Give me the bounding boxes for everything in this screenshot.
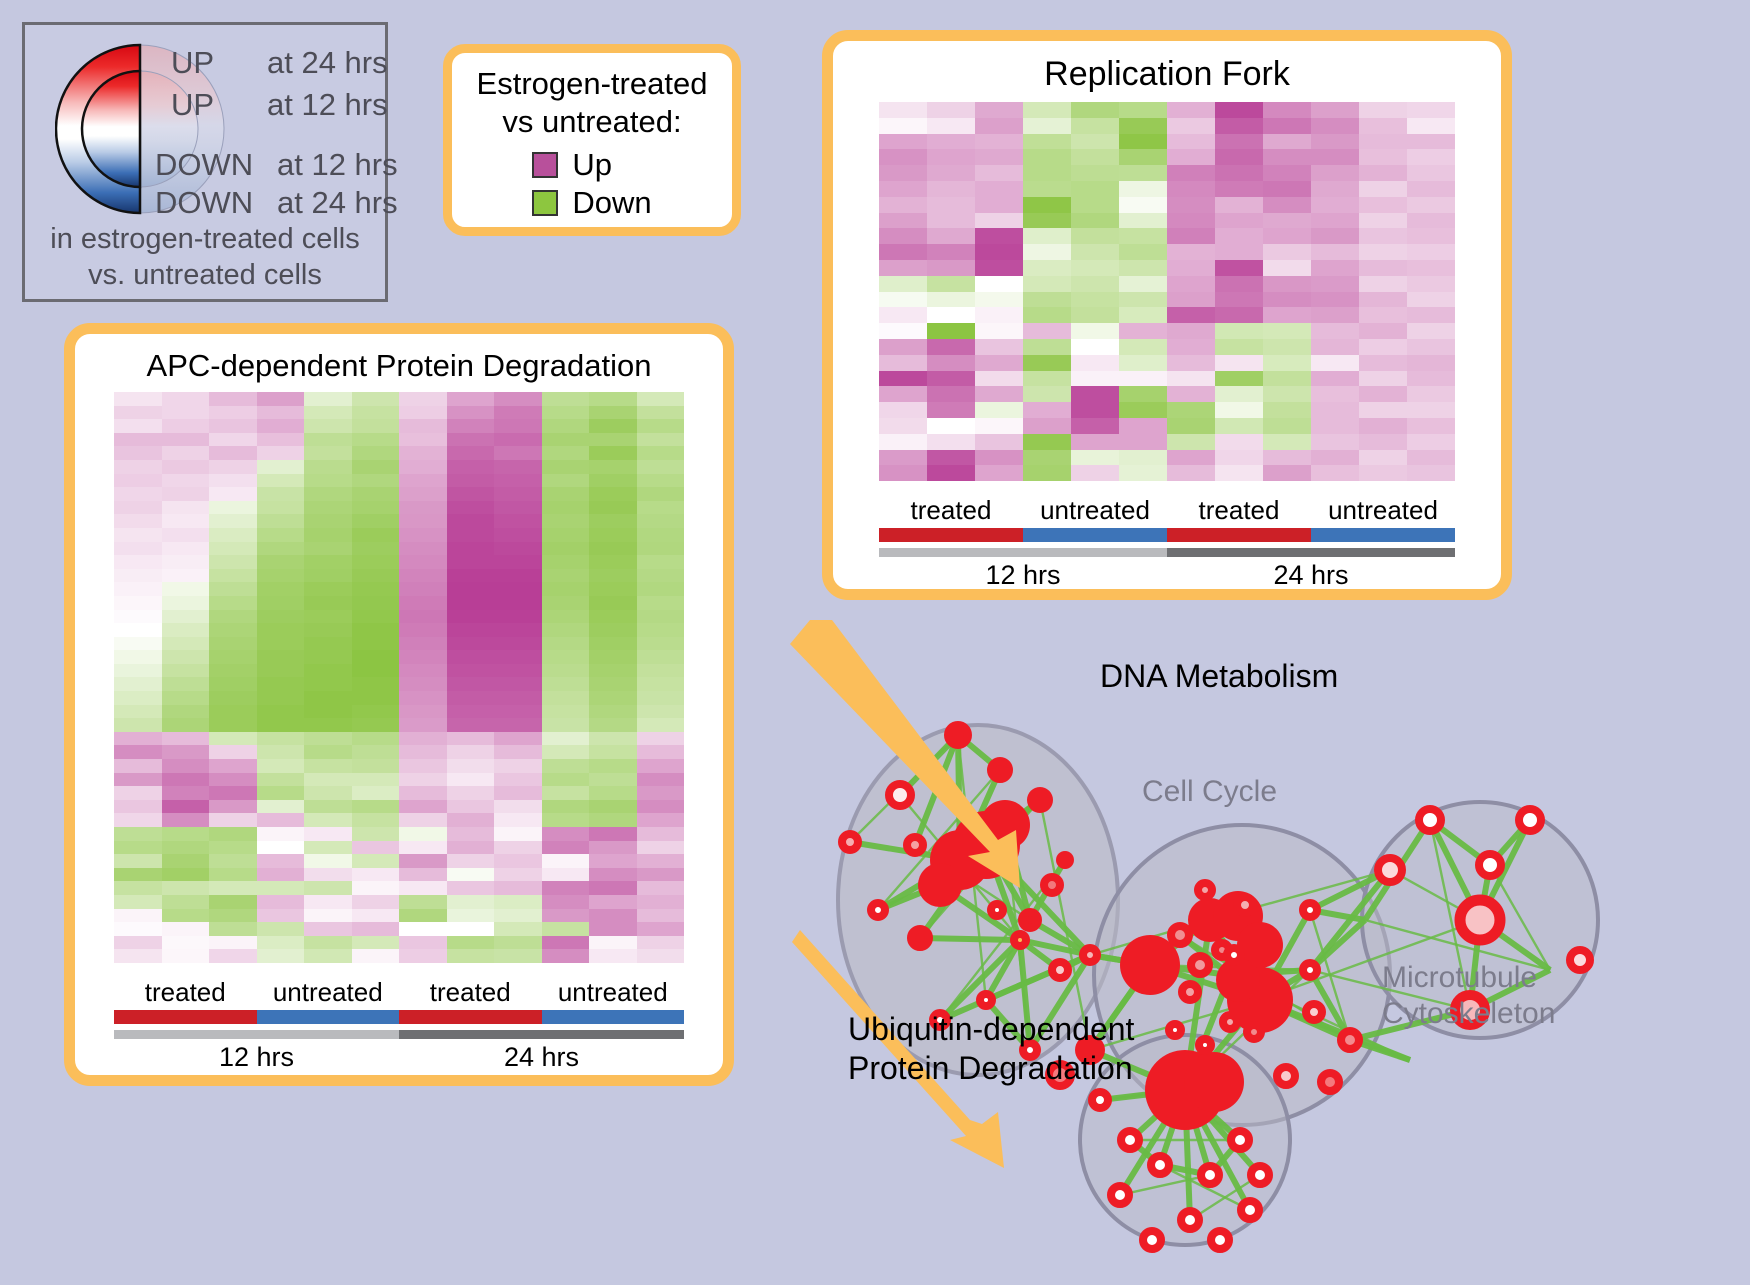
legend-item-down: Down	[532, 185, 651, 221]
heatmap-cell	[1359, 355, 1407, 371]
heatmap-cell	[114, 881, 162, 895]
heatmap-cell	[114, 460, 162, 474]
heatmap-cell	[1071, 355, 1119, 371]
heatmap-cell	[927, 260, 975, 276]
heatmap-cell	[1167, 450, 1215, 466]
heatmap-cell	[589, 555, 637, 569]
heatmap-cell	[542, 610, 590, 624]
heatmap-cell	[589, 732, 637, 746]
heatmap-cell	[927, 276, 975, 292]
heatmap-cell	[352, 705, 400, 719]
heatmap-cell	[257, 922, 305, 936]
heatmap-cell	[447, 949, 495, 963]
heatmap-cell	[257, 460, 305, 474]
heatmap-cell	[447, 841, 495, 855]
heatmap-cell	[257, 392, 305, 406]
heatmap-cell	[399, 800, 447, 814]
heatmap-cell	[1263, 181, 1311, 197]
heatmap-cell	[927, 118, 975, 134]
heatmap-cell	[114, 542, 162, 556]
heatmap-cell	[637, 827, 685, 841]
heatmap-cell	[399, 773, 447, 787]
heatmap-apc-wrap	[75, 392, 723, 963]
heatmap-cell	[1119, 450, 1167, 466]
heatmap-cell	[1023, 402, 1071, 418]
heatmap-cell	[975, 244, 1023, 260]
heatmap-cell	[114, 610, 162, 624]
heatmap-cell	[1407, 307, 1455, 323]
heatmap-cell	[1311, 213, 1359, 229]
heatmap-cell	[304, 392, 352, 406]
heatmap-cell	[1023, 276, 1071, 292]
heatmap-cell	[1119, 402, 1167, 418]
heatmap-cell	[399, 610, 447, 624]
heatmap-cell	[1311, 276, 1359, 292]
heatmap-cell	[1263, 450, 1311, 466]
heatmap-cell	[1023, 418, 1071, 434]
heatmap-cell	[1407, 165, 1455, 181]
node	[1182, 984, 1198, 1000]
node	[1223, 1015, 1237, 1029]
heatmap-cell	[447, 827, 495, 841]
heatmap-cell	[879, 323, 927, 339]
heatmap-cell	[399, 596, 447, 610]
heatmap-cell	[927, 450, 975, 466]
heatmap-cell	[542, 827, 590, 841]
heatmap-cell	[879, 102, 927, 118]
node	[1121, 1131, 1139, 1149]
heatmap-cell	[494, 514, 542, 528]
axis-group-labels: treateduntreatedtreateduntreated	[879, 495, 1455, 526]
heatmap-cell	[1263, 149, 1311, 165]
heatmap-cell	[114, 419, 162, 433]
heatmap-cell	[114, 854, 162, 868]
heatmap-cell	[352, 909, 400, 923]
heatmap-cell	[447, 718, 495, 732]
heatmap-cell	[1071, 434, 1119, 450]
heatmap-cell	[975, 355, 1023, 371]
timepoint-bar-1	[1167, 548, 1455, 557]
network-svg	[790, 620, 1750, 1280]
node	[1378, 858, 1402, 882]
heatmap-cell	[879, 118, 927, 134]
heatmap-cell	[1215, 386, 1263, 402]
heatmap-cell	[257, 909, 305, 923]
heatmap-cell	[114, 501, 162, 515]
heatmap-cell	[494, 446, 542, 460]
node	[1027, 787, 1053, 813]
heatmap-cell	[1311, 244, 1359, 260]
heatmap-cell	[114, 786, 162, 800]
heatmap-cell	[162, 759, 210, 773]
node	[911, 929, 929, 947]
heatmap-cell	[589, 542, 637, 556]
heatmap-cell	[304, 610, 352, 624]
heatmap-cell	[304, 827, 352, 841]
heatmap-cell	[352, 854, 400, 868]
heatmap-cell	[1071, 149, 1119, 165]
heatmap-cell	[637, 800, 685, 814]
heatmap-cell	[352, 528, 400, 542]
node	[1306, 1004, 1322, 1020]
heatmap-cell	[494, 610, 542, 624]
heatmap-cell	[1071, 260, 1119, 276]
heatmap-cell	[399, 868, 447, 882]
heatmap-cell	[1215, 102, 1263, 118]
heatmap-cell	[1215, 434, 1263, 450]
heatmap-cell	[1311, 434, 1359, 450]
heatmap-cell	[1311, 450, 1359, 466]
heatmap-cell	[1023, 307, 1071, 323]
heatmap-cell	[257, 582, 305, 596]
treatment-bar-1	[257, 1010, 400, 1024]
heatmap-cell	[1215, 276, 1263, 292]
heatmap-cell	[589, 610, 637, 624]
timepoint-label-1: 24 hrs	[1167, 560, 1455, 591]
heatmap-cell	[542, 406, 590, 420]
heatmap-cell	[162, 773, 210, 787]
heatmap-cell	[209, 705, 257, 719]
heatmap-cell	[589, 569, 637, 583]
heatmap-cell	[927, 355, 975, 371]
axis-group-label-1: untreated	[257, 977, 400, 1008]
heatmap-cell	[447, 433, 495, 447]
node	[1241, 1201, 1259, 1219]
heatmap-cell	[114, 800, 162, 814]
heatmap-cell	[1263, 355, 1311, 371]
heatmap-cell	[257, 881, 305, 895]
heatmap-cell	[975, 134, 1023, 150]
heatmap-cell	[1071, 213, 1119, 229]
heatmap-cell	[304, 528, 352, 542]
heatmap-cell	[1407, 339, 1455, 355]
heatmap-cell	[114, 623, 162, 637]
heatmap-cell	[162, 745, 210, 759]
heatmap-cell	[162, 419, 210, 433]
heatmap-cell	[975, 371, 1023, 387]
heatmap-cell	[114, 868, 162, 882]
heatmap-cell	[589, 922, 637, 936]
heatmap-cell	[352, 936, 400, 950]
heatmap-cell	[589, 895, 637, 909]
heatmap-cell	[1071, 402, 1119, 418]
heatmap-cell	[304, 501, 352, 515]
heatmap-cell	[162, 800, 210, 814]
heatmap-cell	[114, 949, 162, 963]
heatmap-cell	[1215, 149, 1263, 165]
heatmap-cell	[447, 773, 495, 787]
heatmap-cell	[879, 228, 927, 244]
heatmap-cell	[257, 718, 305, 732]
heatmap-cell	[209, 813, 257, 827]
heatmap-cell	[589, 650, 637, 664]
heatmap-cell	[399, 419, 447, 433]
heatmap-cell	[637, 773, 685, 787]
node	[980, 994, 992, 1006]
heatmap-cell	[209, 773, 257, 787]
heatmap-cell	[637, 392, 685, 406]
heatmap-cell	[637, 555, 685, 569]
heatmap-cell	[637, 501, 685, 515]
heatmap-cell	[257, 936, 305, 950]
heatmap-cell	[447, 854, 495, 868]
heatmap-cell	[162, 881, 210, 895]
heatmap-cell	[1023, 165, 1071, 181]
heatmap-cell	[975, 386, 1023, 402]
heatmap-cell	[637, 650, 685, 664]
heatmap-cell	[1071, 134, 1119, 150]
heatmap-cell	[1407, 134, 1455, 150]
heatmap-cell	[399, 582, 447, 596]
heatmap-cell	[542, 759, 590, 773]
heatmap-cell	[257, 773, 305, 787]
heatmap-cell	[209, 949, 257, 963]
heatmap-cell	[542, 433, 590, 447]
heatmap-cell	[975, 339, 1023, 355]
heatmap-cell	[209, 759, 257, 773]
heatmap-cell	[447, 650, 495, 664]
heatmap-cell	[399, 705, 447, 719]
heatmap-cell	[304, 813, 352, 827]
heatmap-cell	[162, 542, 210, 556]
heatmap-cell	[879, 371, 927, 387]
heatmap-cell	[162, 596, 210, 610]
timepoint-bar-1	[399, 1030, 684, 1039]
heatmap-cell	[637, 582, 685, 596]
heatmap-cell	[542, 542, 590, 556]
heatmap-cell	[1359, 292, 1407, 308]
heatmap-cell	[1071, 244, 1119, 260]
heatmap-cell	[1023, 371, 1071, 387]
heatmap-cell	[542, 474, 590, 488]
heatmap-cell	[1071, 386, 1119, 402]
heatmap-cell	[494, 705, 542, 719]
heatmap-cell	[637, 419, 685, 433]
heatmap-cell	[1023, 181, 1071, 197]
heatmap-cell	[1311, 355, 1359, 371]
heatmap-cell	[1023, 228, 1071, 244]
heatmap-cell	[1359, 402, 1407, 418]
heatmap-cell	[1167, 213, 1215, 229]
heatmap-cell	[542, 460, 590, 474]
heatmap-cell	[1071, 292, 1119, 308]
heatmap-cell	[209, 936, 257, 950]
heatmap-cell	[1167, 418, 1215, 434]
heatmap-cell	[447, 895, 495, 909]
heatmap-cell	[1359, 450, 1407, 466]
heatmap-cell	[1023, 213, 1071, 229]
axis-apc: treateduntreatedtreateduntreated12 hrs24…	[114, 977, 684, 1073]
heatmap-cell	[927, 165, 975, 181]
heatmap-cell	[975, 149, 1023, 165]
heatmap-cell	[1167, 102, 1215, 118]
heatmap-cell	[352, 596, 400, 610]
heatmap-cell	[975, 260, 1023, 276]
updown-legend-title-line1: Estrogen-treated	[477, 65, 708, 103]
heatmap-cell	[209, 555, 257, 569]
heatmap-cell	[1023, 244, 1071, 260]
node	[1181, 1211, 1199, 1229]
heatmap-cell	[1311, 228, 1359, 244]
heatmap-cell	[399, 664, 447, 678]
heatmap-cell	[589, 786, 637, 800]
heatmap-cell	[542, 419, 590, 433]
heatmap-cell	[542, 650, 590, 664]
heatmap-cell	[1167, 197, 1215, 213]
heatmap-cell	[447, 501, 495, 515]
heatmap-cell	[209, 664, 257, 678]
heatmap-cell	[589, 854, 637, 868]
heatmap-cell	[1359, 197, 1407, 213]
heatmap-cell	[1023, 339, 1071, 355]
heatmap-cell	[1119, 228, 1167, 244]
heatmap-cell	[879, 134, 927, 150]
heatmap-cell	[209, 528, 257, 542]
heatmap-cell	[879, 181, 927, 197]
node	[1151, 1156, 1169, 1174]
heatmap-cell	[304, 691, 352, 705]
heatmap-cell	[494, 909, 542, 923]
heatmap-cell	[257, 569, 305, 583]
heatmap-cell	[304, 773, 352, 787]
heatmap-cell	[1359, 118, 1407, 134]
heatmap-cell	[162, 623, 210, 637]
panel-apc-degradation: APC-dependent Protein Degradation treate…	[64, 323, 734, 1086]
heatmap-cell	[399, 487, 447, 501]
heatmap-cell	[975, 323, 1023, 339]
heatmap-cell	[304, 569, 352, 583]
heatmap-cell	[447, 909, 495, 923]
heatmap-cell	[879, 402, 927, 418]
heatmap-cell	[209, 854, 257, 868]
heatmap-cell	[494, 677, 542, 691]
heatmap-cell	[209, 623, 257, 637]
heatmap-cell	[494, 419, 542, 433]
heatmap-cell	[975, 465, 1023, 481]
node	[1169, 1024, 1181, 1036]
heatmap-cell	[352, 555, 400, 569]
heatmap-cell	[1359, 244, 1407, 260]
up-swatch-label: Up	[572, 147, 612, 183]
heatmap-cell	[352, 610, 400, 624]
heatmap-cell	[114, 936, 162, 950]
heatmap-cell	[304, 759, 352, 773]
heatmap-cell	[542, 881, 590, 895]
colorscale-caption: in estrogen-treated cells vs. untreated …	[25, 221, 385, 294]
heatmap-cell	[589, 909, 637, 923]
heatmap-cell	[1311, 181, 1359, 197]
heatmap-cell	[162, 691, 210, 705]
heatmap-cell	[1215, 228, 1263, 244]
heatmap-cell	[589, 718, 637, 732]
heatmap-cell	[352, 650, 400, 664]
heatmap-cell	[209, 460, 257, 474]
heatmap-cell	[114, 446, 162, 460]
heatmap-cell	[304, 637, 352, 651]
heatmap-cell	[589, 637, 637, 651]
treatment-bar-3	[542, 1010, 685, 1024]
heatmap-cell	[1215, 402, 1263, 418]
heatmap-cell	[1263, 244, 1311, 260]
timepoint-label-0: 12 hrs	[114, 1042, 399, 1073]
heatmap-cell	[447, 569, 495, 583]
heatmap-cell	[637, 909, 685, 923]
heatmap-cell	[257, 949, 305, 963]
heatmap-cell	[114, 650, 162, 664]
heatmap-cell	[494, 949, 542, 963]
heatmap-cell	[209, 895, 257, 909]
node	[1198, 883, 1212, 897]
heatmap-cell	[352, 841, 400, 855]
heatmap-cell	[399, 474, 447, 488]
heatmap-cell	[1071, 228, 1119, 244]
heatmap-cell	[114, 705, 162, 719]
heatmap-cell	[542, 786, 590, 800]
heatmap-cell	[1167, 149, 1215, 165]
heatmap-cell	[162, 501, 210, 515]
heatmap-cell	[494, 460, 542, 474]
heatmap-cell	[162, 827, 210, 841]
heatmap-cell	[542, 691, 590, 705]
heatmap-cell	[494, 936, 542, 950]
heatmap-cell	[304, 718, 352, 732]
heatmap-cell	[114, 813, 162, 827]
heatmap-cell	[257, 854, 305, 868]
heatmap-cell	[399, 460, 447, 474]
heatmap-cell	[447, 623, 495, 637]
heatmap-cell	[494, 800, 542, 814]
heatmap-cell	[1263, 292, 1311, 308]
heatmap-cell	[1359, 213, 1407, 229]
heatmap-cell	[399, 623, 447, 637]
network-diagram: DNA Metabolism Cell Cycle Microtubule Cy…	[790, 620, 1750, 1280]
heatmap-cell	[494, 555, 542, 569]
heatmap-cell	[1023, 355, 1071, 371]
heatmap-cell	[399, 813, 447, 827]
node	[1143, 1231, 1161, 1249]
treatment-bar-0	[114, 1010, 257, 1024]
heatmap-cell	[399, 514, 447, 528]
heatmap-cell	[162, 392, 210, 406]
heatmap-cell	[542, 718, 590, 732]
heatmap-cell	[162, 949, 210, 963]
heatmap-cell	[542, 895, 590, 909]
heatmap-cell	[1359, 181, 1407, 197]
heatmap-cell	[1071, 118, 1119, 134]
heatmap-cell	[637, 949, 685, 963]
heatmap-cell	[1119, 434, 1167, 450]
heatmap-cell	[257, 542, 305, 556]
heatmap-cell	[447, 392, 495, 406]
heatmap-cell	[1311, 102, 1359, 118]
heatmap-cell	[927, 228, 975, 244]
heatmap-cell	[589, 881, 637, 895]
heatmap-cell	[927, 181, 975, 197]
heatmap-cell	[162, 610, 210, 624]
heatmap-cell	[447, 705, 495, 719]
heatmap-cell	[399, 677, 447, 691]
heatmap-cell	[1167, 228, 1215, 244]
heatmap-cell	[542, 664, 590, 678]
heatmap-cell	[1407, 418, 1455, 434]
heatmap-cell	[1023, 197, 1071, 213]
heatmap-cell	[1359, 323, 1407, 339]
heatmap-cell	[304, 677, 352, 691]
heatmap-cell	[637, 623, 685, 637]
heatmap-cell	[399, 936, 447, 950]
heatmap-cell	[1263, 228, 1311, 244]
heatmap-cell	[257, 868, 305, 882]
